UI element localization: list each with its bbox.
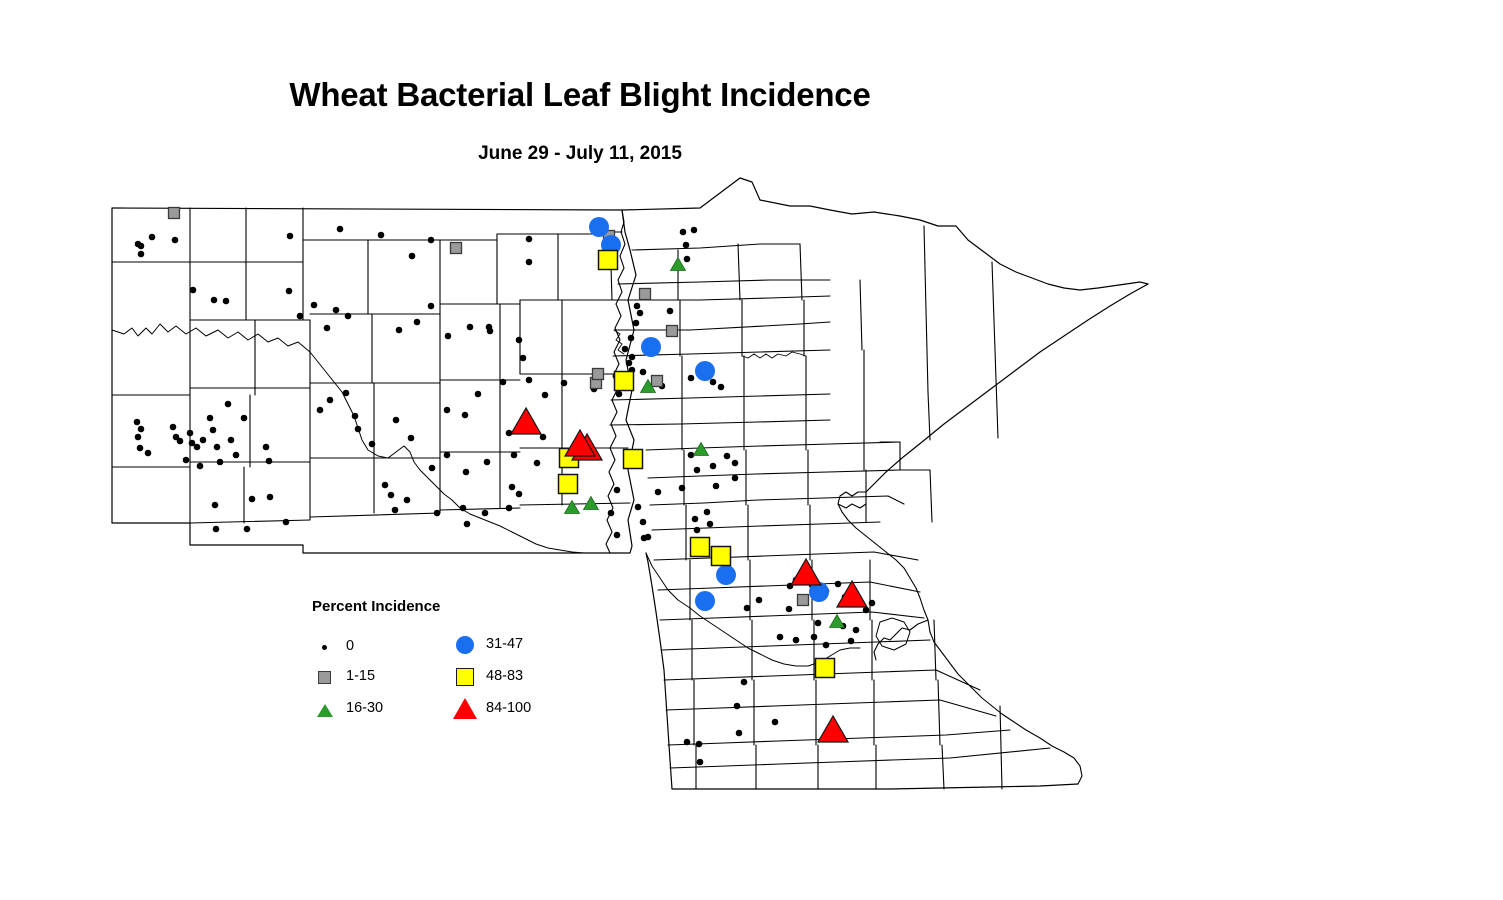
dot-0 xyxy=(212,502,219,509)
dot-0 xyxy=(626,360,633,367)
dot-0 xyxy=(138,243,145,250)
dot-0 xyxy=(869,600,876,607)
dot-0 xyxy=(355,426,362,433)
dot-0 xyxy=(187,430,194,437)
dot-0 xyxy=(327,397,334,404)
dot-0 xyxy=(484,459,491,466)
dot-0 xyxy=(207,415,214,422)
dot-0 xyxy=(736,730,743,737)
yellow-square-icon xyxy=(452,666,478,688)
dot-0 xyxy=(228,437,235,444)
dot-0 xyxy=(692,516,699,523)
dot-0 xyxy=(393,417,400,424)
dot-0 xyxy=(608,510,615,517)
dot-0 xyxy=(500,379,507,386)
dot-0 xyxy=(718,384,725,391)
square-1-15 xyxy=(640,289,651,300)
gray-square-icon xyxy=(312,666,338,688)
legend-label-84-100: 84-100 xyxy=(486,700,531,716)
dot-0 xyxy=(211,297,218,304)
dot-0 xyxy=(135,434,142,441)
dot-0 xyxy=(724,453,731,460)
square-1-15 xyxy=(667,326,678,337)
dot-0 xyxy=(823,642,830,649)
square-48-83 xyxy=(559,475,578,494)
triangle-16-30 xyxy=(565,501,580,514)
legend-label-31-47: 31-47 xyxy=(486,636,523,652)
legend-title: Percent Incidence xyxy=(312,598,440,615)
dot-0 xyxy=(263,444,270,451)
dot-0 xyxy=(444,452,451,459)
dot-0 xyxy=(392,507,399,514)
triangle-84-100 xyxy=(837,581,867,607)
dot-0 xyxy=(684,256,691,263)
dot-0 xyxy=(526,377,533,384)
dot-0 xyxy=(853,627,860,634)
dot-0 xyxy=(516,491,523,498)
dot-0 xyxy=(732,475,739,482)
square-1-15 xyxy=(652,376,663,387)
dot-0 xyxy=(249,496,256,503)
dot-0 xyxy=(467,324,474,331)
dot-0 xyxy=(445,333,452,340)
dot-0 xyxy=(404,497,411,504)
dot-0 xyxy=(317,407,324,414)
circle-31-47 xyxy=(641,337,661,357)
dot-0 xyxy=(534,460,541,467)
dot-0 xyxy=(616,391,623,398)
dot-0 xyxy=(516,337,523,344)
dot-0 xyxy=(811,634,818,641)
dot-0 xyxy=(138,426,145,433)
dot-0 xyxy=(213,526,220,533)
dot-0 xyxy=(640,369,647,376)
dot-0 xyxy=(848,638,855,645)
dot-0 xyxy=(628,335,635,342)
dot-0 xyxy=(287,233,294,240)
dot-0 xyxy=(777,634,784,641)
square-48-83 xyxy=(816,659,835,678)
dot-0 xyxy=(688,452,695,459)
square-48-83 xyxy=(624,450,643,469)
dot-0 xyxy=(704,509,711,516)
dot-0 xyxy=(710,379,717,386)
dot-0 xyxy=(710,463,717,470)
dot-0 xyxy=(744,605,751,612)
square-1-15 xyxy=(451,243,462,254)
triangle-84-100 xyxy=(791,559,821,585)
dot-0 xyxy=(463,469,470,476)
dot-0 xyxy=(511,452,518,459)
square-48-83 xyxy=(599,251,618,270)
dot-0 xyxy=(540,434,547,441)
dot-0 xyxy=(378,232,385,239)
dot-0 xyxy=(283,519,290,526)
circle-31-47 xyxy=(695,361,715,381)
dot-0 xyxy=(138,251,145,258)
circle-31-47 xyxy=(695,591,715,611)
dot-0 xyxy=(526,259,533,266)
dot-0 xyxy=(679,485,686,492)
dot-0 xyxy=(428,303,435,310)
dot-0 xyxy=(324,325,331,332)
county-map xyxy=(0,0,1503,900)
triangle-16-30 xyxy=(584,497,599,510)
dot-0 xyxy=(200,437,207,444)
county-boundaries xyxy=(112,178,1148,789)
dot-0 xyxy=(506,505,513,512)
dot-0 xyxy=(214,444,221,451)
dot-0 xyxy=(241,415,248,422)
dot-0 xyxy=(520,355,527,362)
legend-label-1-15: 1-15 xyxy=(346,668,375,684)
green-triangle-icon xyxy=(312,698,338,720)
dot-0 xyxy=(233,452,240,459)
dot-0 xyxy=(266,458,273,465)
dot-0 xyxy=(637,310,644,317)
dot-0 xyxy=(462,412,469,419)
dot-0 xyxy=(225,401,232,408)
triangle-16-30 xyxy=(694,443,709,456)
dot-0 xyxy=(297,313,304,320)
dot-0 xyxy=(311,302,318,309)
legend-label-48-83: 48-83 xyxy=(486,668,523,684)
dot-0 xyxy=(475,391,482,398)
dot-0 xyxy=(244,526,251,533)
dot-0 xyxy=(694,527,701,534)
dot-0 xyxy=(217,459,224,466)
dot-0 xyxy=(352,413,359,420)
dot-0 xyxy=(509,484,516,491)
square-1-15 xyxy=(798,595,809,606)
dot-0 xyxy=(444,407,451,414)
dot-0 xyxy=(732,460,739,467)
square-48-83 xyxy=(712,547,731,566)
dot-0 xyxy=(177,438,184,445)
dot-0 xyxy=(634,303,641,310)
dot-0 xyxy=(542,392,549,399)
dot-0 xyxy=(388,492,395,499)
dot-0 xyxy=(641,535,648,542)
square-1-15 xyxy=(169,208,180,219)
dot-0 xyxy=(210,427,217,434)
dot-0 xyxy=(408,435,415,442)
dot-0 xyxy=(756,597,763,604)
dot-0 xyxy=(145,450,152,457)
dot-0 xyxy=(337,226,344,233)
map-figure: Wheat Bacterial Leaf Blight Incidence Ju… xyxy=(0,0,1503,900)
dot-0 xyxy=(267,494,274,501)
circle-31-47 xyxy=(716,565,736,585)
dot-0 xyxy=(691,227,698,234)
dot-0 xyxy=(333,307,340,314)
red-triangle-icon xyxy=(452,698,478,720)
dot-0 xyxy=(190,287,197,294)
legend-label-0: 0 xyxy=(346,638,354,654)
dot-0 xyxy=(223,298,230,305)
dot-0 xyxy=(633,320,640,327)
dot-0 xyxy=(396,327,403,334)
dot-0 xyxy=(683,242,690,249)
dot-0 xyxy=(635,504,642,511)
dot-0 xyxy=(772,719,779,726)
dot-0 xyxy=(707,521,714,528)
dot-0 xyxy=(696,741,703,748)
dot-0 xyxy=(343,390,350,397)
small-black-dot-icon xyxy=(312,636,338,658)
dot-0 xyxy=(460,505,467,512)
dot-0 xyxy=(793,637,800,644)
dot-0 xyxy=(149,234,156,241)
dot-0 xyxy=(369,441,376,448)
dot-0 xyxy=(655,489,662,496)
dot-0 xyxy=(667,308,674,315)
dot-0 xyxy=(526,236,533,243)
dot-0 xyxy=(286,288,293,295)
triangle-84-100 xyxy=(511,408,541,434)
dot-0 xyxy=(561,380,568,387)
dot-0 xyxy=(697,759,704,766)
dot-0 xyxy=(680,229,687,236)
dot-0 xyxy=(713,483,720,490)
dot-0 xyxy=(197,463,204,470)
circle-31-47 xyxy=(589,217,609,237)
dot-0 xyxy=(486,324,493,331)
dot-0 xyxy=(482,510,489,517)
dot-0 xyxy=(622,346,629,353)
dot-0 xyxy=(172,237,179,244)
dot-0 xyxy=(134,419,141,426)
legend-label-16-30: 16-30 xyxy=(346,700,383,716)
dot-0 xyxy=(640,519,647,526)
dot-0 xyxy=(464,521,471,528)
dot-0 xyxy=(382,482,389,489)
blue-circle-icon xyxy=(452,634,478,656)
dot-0 xyxy=(345,313,352,320)
dot-0 xyxy=(409,253,416,260)
triangle-16-30 xyxy=(671,258,686,271)
dot-0 xyxy=(429,465,436,472)
dot-0 xyxy=(815,620,822,627)
dot-0 xyxy=(614,487,621,494)
triangle-84-100 xyxy=(818,716,848,742)
dot-0 xyxy=(428,237,435,244)
dot-0 xyxy=(137,445,144,452)
legend: Percent Incidence 0 1-15 16-30 31-47 48-… xyxy=(312,598,572,728)
square-1-15 xyxy=(593,369,604,380)
dot-0 xyxy=(614,532,621,539)
triangle-16-30 xyxy=(830,615,845,628)
dot-0 xyxy=(741,679,748,686)
dot-0 xyxy=(835,581,842,588)
square-48-83 xyxy=(691,538,710,557)
square-48-83 xyxy=(615,372,634,391)
dot-0 xyxy=(629,354,636,361)
dot-0 xyxy=(434,510,441,517)
dot-0 xyxy=(863,607,870,614)
dot-0 xyxy=(170,424,177,431)
dot-0 xyxy=(183,457,190,464)
dot-0 xyxy=(414,319,421,326)
map-canvas xyxy=(0,0,1503,900)
dot-0 xyxy=(688,375,695,382)
dot-0 xyxy=(194,444,201,451)
dot-0 xyxy=(734,703,741,710)
dot-0 xyxy=(694,467,701,474)
dot-0 xyxy=(786,606,793,613)
dot-0 xyxy=(684,739,691,746)
